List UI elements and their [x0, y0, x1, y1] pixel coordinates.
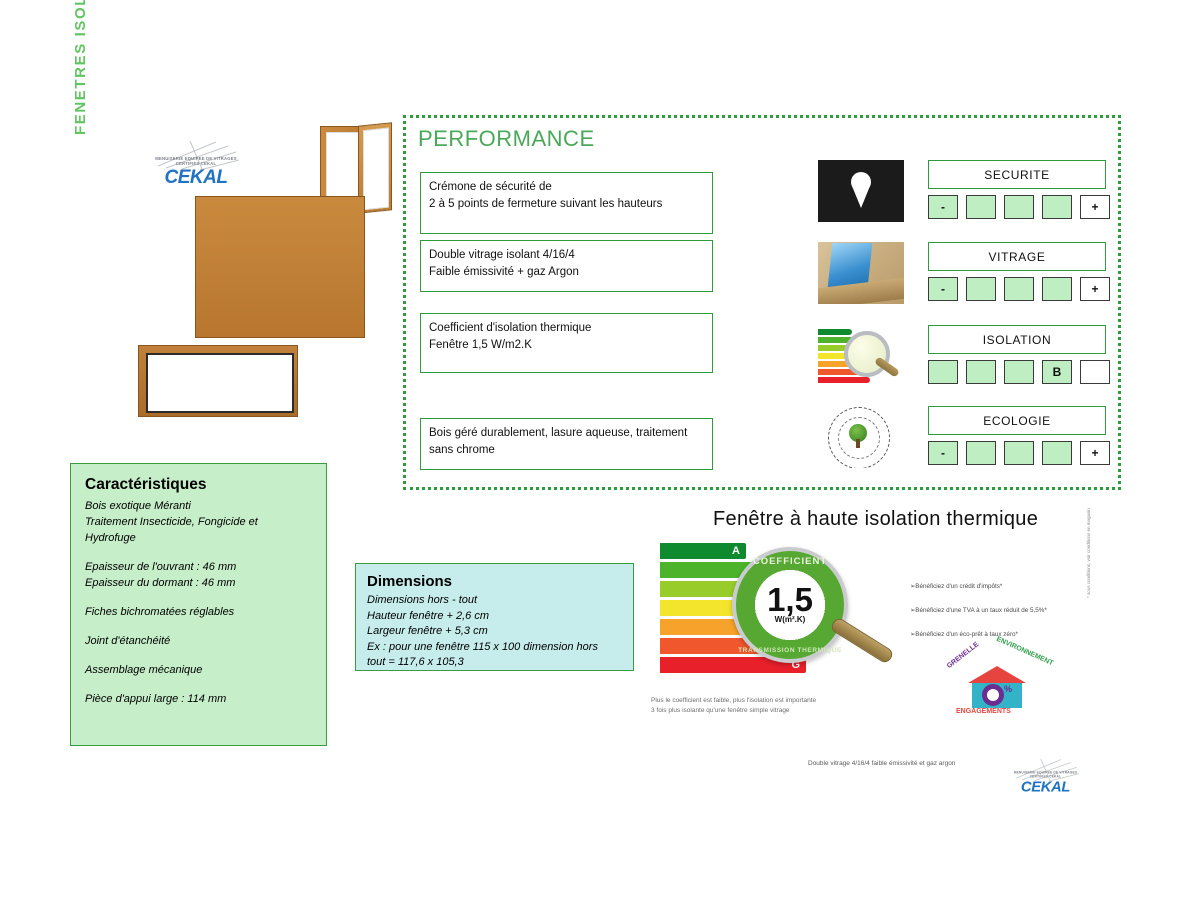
- rating-cell[interactable]: [1042, 441, 1072, 465]
- rating-cell[interactable]: [1042, 195, 1072, 219]
- carac-line: Hydrofuge: [85, 530, 312, 546]
- product-sheet: FENETRES ISOLANTE MT 46 MM MENUISERIE EQ…: [0, 0, 1202, 901]
- keyhole-icon: [818, 160, 904, 222]
- cekal-certification-text: MENUISERIE EQUIPEE DE VITRAGES CERTIFIES…: [1008, 770, 1083, 778]
- performance-box-insulation: Coefficient d'isolation thermique Fenêtr…: [420, 313, 713, 373]
- rating-label-isolation: ISOLATION: [928, 325, 1106, 354]
- performance-title: PERFORMANCE: [418, 126, 595, 152]
- eco-pret-label: ECO-PRÊT: [982, 675, 1008, 681]
- carac-line: Assemblage mécanique: [85, 662, 312, 678]
- glazing-photo-icon: [818, 242, 904, 304]
- performance-box-ecology: Bois géré durablement, lasure aqueuse, t…: [420, 418, 713, 470]
- rating-label-vitrage: VITRAGE: [928, 242, 1106, 271]
- magnifier-handle-icon: [829, 616, 895, 665]
- rating-cell[interactable]: [966, 441, 996, 465]
- rating-label-securite: SECURITE: [928, 160, 1106, 189]
- carac-line: Fiches bichromatées réglables: [85, 604, 312, 620]
- energy-bar-a: A: [660, 543, 746, 559]
- window-handle-icon: [195, 196, 365, 338]
- dimensions-line: Hauteur fenêtre + 2,6 cm: [367, 609, 622, 625]
- dimensions-line: Dimensions hors - tout: [367, 593, 622, 609]
- cekal-logo: MENUISERIE EQUIPEE DE VITRAGES CERTIFIES…: [148, 140, 244, 192]
- energy-magnifier-icon: [818, 325, 904, 387]
- rating-cells-ecologie: - +: [928, 441, 1110, 466]
- rating-cell[interactable]: -: [928, 195, 958, 219]
- dimensions-line: tout = 117,6 x 105,3: [367, 655, 622, 671]
- rating-cells-vitrage: - +: [928, 277, 1110, 302]
- rating-cell[interactable]: [1004, 195, 1034, 219]
- rating-cell[interactable]: [1004, 441, 1034, 465]
- rating-cell[interactable]: -: [928, 277, 958, 301]
- rating-cell[interactable]: +: [1080, 441, 1110, 465]
- rating-cell[interactable]: [966, 360, 996, 384]
- rating-cell[interactable]: [1004, 360, 1034, 384]
- grenelle-word-bottom: ENGAGEMENTS: [956, 708, 1011, 715]
- coefficient-value: 1,5: [736, 581, 844, 619]
- caracteristiques-panel: Caractéristiques Bois exotique Méranti T…: [70, 463, 327, 746]
- energy-label-caption: Plus le coefficient est faible, plus l'i…: [651, 696, 911, 715]
- rating-row-ecologie: ECOLOGIE - +: [818, 406, 1108, 472]
- dimensions-title: Dimensions: [367, 573, 622, 590]
- coefficient-ring-bottom-text: TRANSMISSION THERMIQUE: [736, 647, 844, 654]
- window-photo-transom: [138, 345, 298, 417]
- rating-cell-grade-b[interactable]: B: [1042, 360, 1072, 384]
- vertical-product-title: FENETRES ISOLANTE MT 46 MM: [72, 0, 89, 135]
- coefficient-magnifier-lens: COEFFICIENT 1,5 W(m².K) TRANSMISSION THE…: [732, 547, 848, 663]
- coefficient-ring-top-text: COEFFICIENT: [736, 556, 844, 567]
- cekal-certification-text: MENUISERIE EQUIPEE DE VITRAGES CERTIFIES…: [148, 156, 244, 166]
- rating-label-ecologie: ECOLOGIE: [928, 406, 1106, 435]
- grenelle-environnement-logo: GRENELLE ENVIRONNEMENT ECO-PRÊT % ENGAGE…: [938, 648, 1056, 722]
- performance-box-glazing: Double vitrage isolant 4/16/4 Faible émi…: [420, 240, 713, 292]
- benefit-item: ➢Bénéficiez d'une TVA à un taux réduit d…: [910, 607, 1095, 614]
- rating-cell[interactable]: [966, 277, 996, 301]
- carac-line: Traitement Insecticide, Fongicide et: [85, 514, 312, 530]
- dimensions-line: Largeur fenêtre + 5,3 cm: [367, 624, 622, 640]
- rating-cell[interactable]: +: [1080, 195, 1110, 219]
- rating-cell[interactable]: +: [1080, 277, 1110, 301]
- carac-line: Epaisseur de l'ouvrant : 46 mm: [85, 559, 312, 575]
- energy-label-graphic: A F G COEFFICIENT 1,5 W(m².K) TRANSMISSI…: [660, 535, 890, 695]
- carac-line: Pièce d'appui large : 114 mm: [85, 691, 312, 707]
- cekal-logo-footer: MENUISERIE EQUIPEE DE VITRAGES CERTIFIES…: [1008, 758, 1083, 799]
- eco-pret-percent: %: [1004, 684, 1012, 694]
- rating-cell[interactable]: [1004, 277, 1034, 301]
- dimensions-line: Ex : pour une fenêtre 115 x 100 dimensio…: [367, 640, 622, 656]
- cekal-wordmark: CEKAL: [148, 167, 244, 189]
- bottom-section-title: Fenêtre à haute isolation thermique: [713, 508, 1038, 531]
- rating-cell[interactable]: [928, 360, 958, 384]
- carac-line: Joint d'étanchéité: [85, 633, 312, 649]
- eco-pret-house-icon: ECO-PRÊT %: [968, 666, 1026, 708]
- rating-cell[interactable]: [1080, 360, 1110, 384]
- benefit-item: ➢Bénéficiez d'un crédit d'impôts*: [910, 583, 1095, 590]
- rating-cell[interactable]: -: [928, 441, 958, 465]
- carac-line: Epaisseur du dormant : 46 mm: [85, 575, 312, 591]
- cekal-wordmark: CEKAL: [1008, 779, 1083, 796]
- dimensions-panel: Dimensions Dimensions hors - tout Hauteu…: [355, 563, 634, 671]
- legal-side-note: * sous conditions, voir conditions en ma…: [1086, 488, 1091, 598]
- performance-box-security: Crémone de sécurité de 2 à 5 points de f…: [420, 172, 713, 234]
- eco-stamp-icon: [818, 406, 904, 468]
- rating-cells-isolation: B: [928, 360, 1110, 385]
- coefficient-unit: W(m².K): [736, 615, 844, 624]
- rating-cells-securite: - +: [928, 195, 1110, 220]
- footer-glazing-note: Double vitrage 4/16/4 faible émissivité …: [808, 760, 955, 767]
- rating-row-vitrage: VITRAGE - +: [818, 242, 1108, 308]
- rating-row-securite: SECURITE - +: [818, 160, 1108, 226]
- rating-row-isolation: ISOLATION B: [818, 325, 1108, 391]
- carac-line: Bois exotique Méranti: [85, 498, 312, 514]
- rating-cell[interactable]: [966, 195, 996, 219]
- caracteristiques-title: Caractéristiques: [85, 476, 312, 494]
- rating-cell[interactable]: [1042, 277, 1072, 301]
